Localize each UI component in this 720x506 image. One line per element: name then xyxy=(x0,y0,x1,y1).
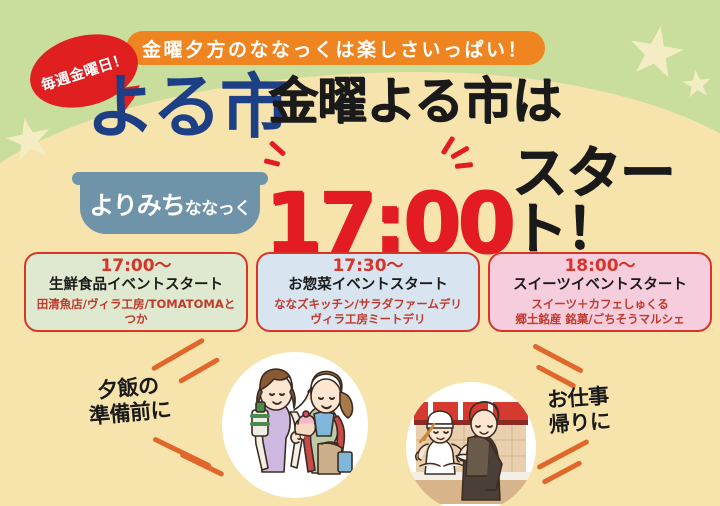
start-time-value: 17:00 xyxy=(264,186,511,262)
event-card-time: 17:00〜 xyxy=(100,257,171,277)
event-card: 18:00〜 スイーツイベントスタート スイーツ＋カフェしゅくる郷土銘産 銘菓/… xyxy=(488,252,712,332)
logo-subtitle: よりみちななっく xyxy=(80,186,260,222)
event-card: 17:00〜 生鮮食品イベントスタート 田清魚店/ヴィラ工房/TOMATOMAと… xyxy=(24,252,248,332)
event-card-title: お惣菜イベントスタート xyxy=(288,276,448,294)
start-time-row: 17:00 スタート！ xyxy=(264,146,720,262)
event-card-title: 生鮮食品イベントスタート xyxy=(49,276,223,294)
start-time-suffix: スタート！ xyxy=(511,146,720,262)
event-card-title: スイーツイベントスタート xyxy=(513,276,687,294)
poster-root: 金曜夕方のななっくは楽しさいっぱい！ 毎週金曜日！ よる市 よりみちななっく 金… xyxy=(0,0,720,506)
top-banner-text: 金曜夕方のななっくは楽しさいっぱい！ xyxy=(142,35,529,62)
event-card-shops: スイーツ＋カフェしゅくる郷土銘産 銘菓/ごちそうマルシェ xyxy=(515,297,684,327)
event-card: 17:30〜 お惣菜イベントスタート ななズキッチン/サラダファームデリヴィラ工… xyxy=(256,252,480,332)
illustration-shop-vendor xyxy=(406,382,536,506)
event-card-time: 17:30〜 xyxy=(332,257,403,277)
illustration-two-women-shoppers xyxy=(222,352,368,498)
event-card-list: 17:00〜 生鮮食品イベントスタート 田清魚店/ヴィラ工房/TOMATOMAと… xyxy=(24,252,712,332)
event-card-shops: 田清魚店/ヴィラ工房/TOMATOMAとつか xyxy=(32,297,240,327)
event-card-time: 18:00〜 xyxy=(564,257,635,277)
page-title: 金曜よる市は xyxy=(268,76,561,126)
callout-after-work-line2: 帰りに xyxy=(548,409,611,438)
callout-after-work: お仕事 帰りに xyxy=(546,384,611,438)
callout-dinner-prep: 夕飯の 準備前に xyxy=(86,373,172,429)
logo-title: よる市 xyxy=(86,72,288,142)
top-banner: 金曜夕方のななっくは楽しさいっぱい！ xyxy=(126,31,545,65)
event-card-shops: ななズキッチン/サラダファームデリヴィラ工房ミートデリ xyxy=(274,297,462,327)
logo-subtitle-main: よりみち xyxy=(89,191,185,220)
logo-subtitle-secondary: ななっく xyxy=(185,199,251,219)
